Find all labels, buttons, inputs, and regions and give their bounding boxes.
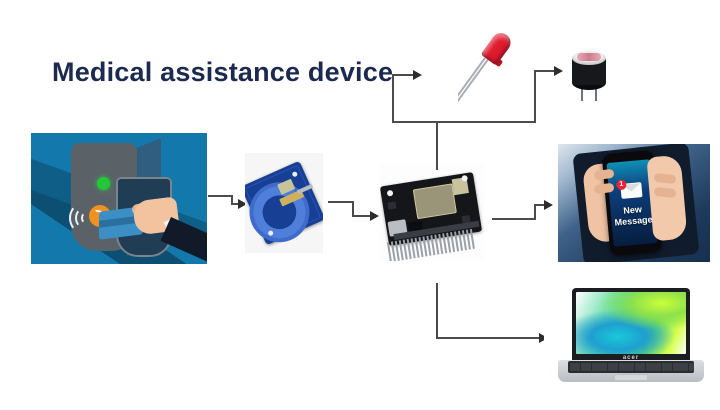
edge-reader-to-module-seg1 (208, 195, 233, 197)
edge-mcu-to-phone-seg2 (534, 205, 536, 219)
edge-bus-to-led-seg (392, 74, 414, 76)
buzzer-label (577, 53, 601, 61)
edge-bus-to-buzzer-arrowhead (554, 66, 563, 76)
edge-mcu-to-outputs-bus (392, 121, 536, 123)
laptop-image: acer (544, 282, 716, 404)
notification-text: New Message (610, 203, 656, 229)
laptop-trackpad (614, 374, 648, 381)
smartphone-image: 1 New Message (558, 144, 710, 262)
edge-mcu-to-outputs-riser (436, 122, 438, 170)
red-led-image (458, 28, 524, 120)
flash-button (387, 201, 396, 209)
page-title: Medical assistance device (52, 57, 393, 88)
laptop-lid: acer (572, 288, 690, 362)
status-led-icon (97, 177, 110, 190)
edge-mcu-to-laptop-seg (436, 337, 540, 339)
edge-bus-to-led-arrowhead (413, 70, 422, 80)
module-pcb (245, 161, 323, 245)
nodemcu-esp8266-image (380, 165, 484, 261)
laptop-keyboard (568, 361, 694, 373)
edge-mcu-to-phone-seg1 (492, 218, 536, 220)
module-mount-hole (267, 230, 274, 237)
edge-bus-to-buzzer-riser (534, 71, 536, 122)
edge-module-to-mcu-seg3 (352, 215, 371, 217)
edge-mcu-to-laptop-riser (436, 283, 438, 339)
nfc-waves-icon (67, 203, 87, 229)
edge-bus-to-led-riser (392, 75, 394, 122)
edge-mcu-to-phone-arrowhead (544, 200, 553, 210)
module-mount-hole (292, 171, 299, 178)
notification-subtitle: Message (611, 214, 656, 229)
led-leg (458, 57, 490, 107)
buzzer-image (562, 45, 618, 107)
mcu-mount-hole (387, 190, 394, 197)
laptop-screen-wallpaper (576, 292, 686, 354)
rfid-card-reader-image (31, 133, 207, 264)
diagram-canvas: Medical assistance device (0, 0, 720, 410)
esp8266-shield (413, 183, 457, 219)
edge-bus-to-buzzer-seg (534, 70, 555, 72)
rfid-rc522-module-image (245, 153, 323, 253)
edge-module-to-mcu-arrowhead (370, 211, 379, 221)
edge-module-to-mcu-seg1 (328, 201, 354, 203)
